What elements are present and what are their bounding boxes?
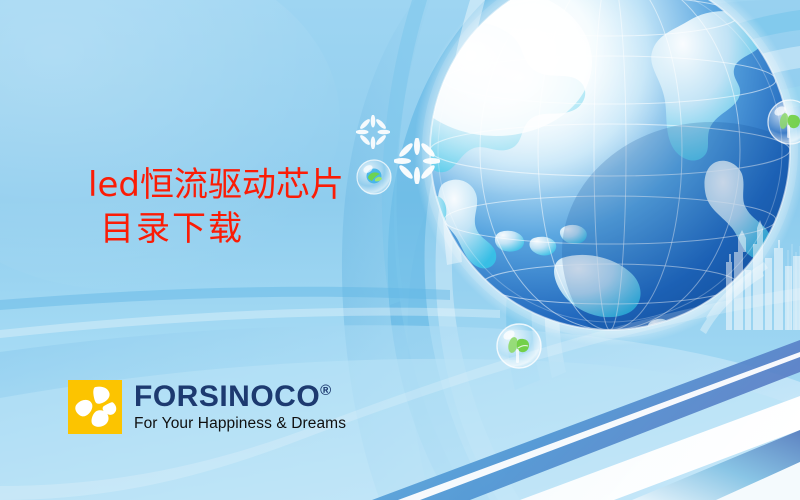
logo-text-block: FORSINOCO® For Your Happiness & Dreams (134, 382, 346, 432)
headline-line-2: 目录下载 (88, 208, 344, 252)
logo-tagline: For Your Happiness & Dreams (134, 416, 346, 432)
headline-block: led恒流驱动芯片 目录下载 (88, 164, 344, 251)
pinwheel-flower-icon (68, 380, 122, 434)
registered-trademark-icon: ® (320, 382, 332, 399)
company-logo: FORSINOCO® For Your Happiness & Dreams (68, 380, 346, 434)
logo-wordmark-text: FORSINOCO (134, 380, 320, 413)
headline-line-1: led恒流驱动芯片 (88, 164, 344, 208)
logo-wordmark: FORSINOCO® (134, 382, 346, 412)
marketing-banner: led恒流驱动芯片 目录下载 FORSINOCO® For Your Happi… (0, 0, 800, 500)
